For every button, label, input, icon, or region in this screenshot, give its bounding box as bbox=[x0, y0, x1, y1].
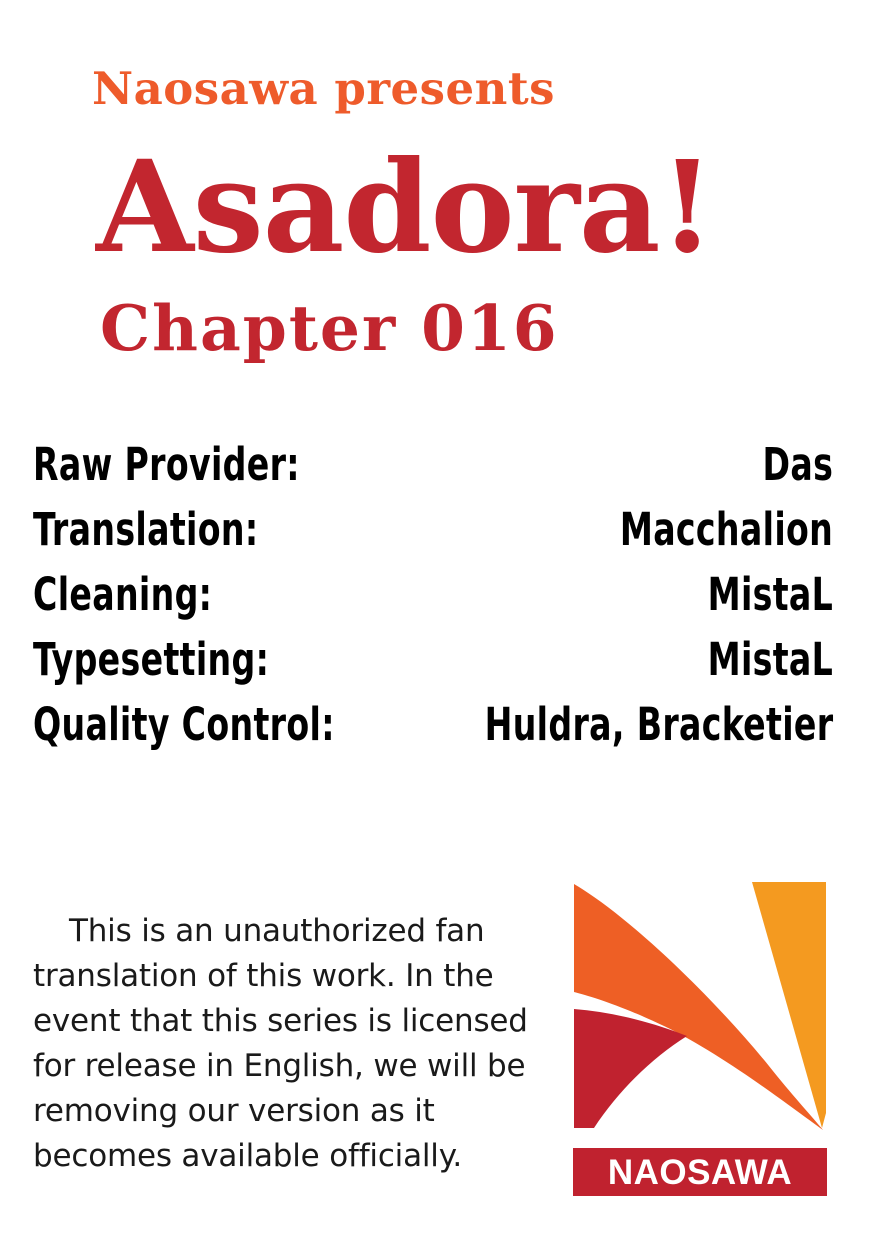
naosawa-n-swoosh-logo-icon bbox=[572, 876, 828, 1138]
table-row: Typesetting: MistaL bbox=[33, 627, 833, 692]
logo-wordmark-banner: NAOSAWA bbox=[573, 1148, 827, 1196]
credit-role-label: Quality Control: bbox=[33, 692, 335, 757]
credit-role-label: Typesetting: bbox=[33, 627, 269, 692]
chapter-label: Chapter 016 bbox=[100, 297, 559, 360]
credit-person-value: MistaL bbox=[707, 627, 833, 692]
credits-page: Naosawa presents Asadora! Chapter 016 Ra… bbox=[0, 0, 870, 1245]
logo-wordmark-text: NAOSAWA bbox=[608, 1155, 792, 1190]
table-row: Raw Provider: Das bbox=[33, 432, 833, 497]
credit-role-label: Cleaning: bbox=[33, 562, 212, 627]
table-row: Cleaning: MistaL bbox=[33, 562, 833, 627]
credit-person-value: MistaL bbox=[707, 562, 833, 627]
table-row: Translation: Macchalion bbox=[33, 497, 833, 562]
credit-person-value: Das bbox=[762, 432, 833, 497]
publisher-presents-line: Naosawa presents bbox=[92, 66, 555, 111]
disclaimer-text: This is an unauthorized fan translation … bbox=[33, 909, 533, 1179]
credits-table: Raw Provider: Das Translation: Macchalio… bbox=[33, 432, 833, 757]
credit-person-value: Huldra, Bracketier bbox=[484, 692, 833, 757]
page-title: Asadora! bbox=[96, 144, 714, 270]
table-row: Quality Control: Huldra, Bracketier bbox=[33, 692, 833, 757]
credit-person-value: Macchalion bbox=[620, 497, 833, 562]
naosawa-logo: NAOSAWA bbox=[572, 876, 828, 1198]
credit-role-label: Translation: bbox=[33, 497, 258, 562]
credit-role-label: Raw Provider: bbox=[33, 432, 300, 497]
